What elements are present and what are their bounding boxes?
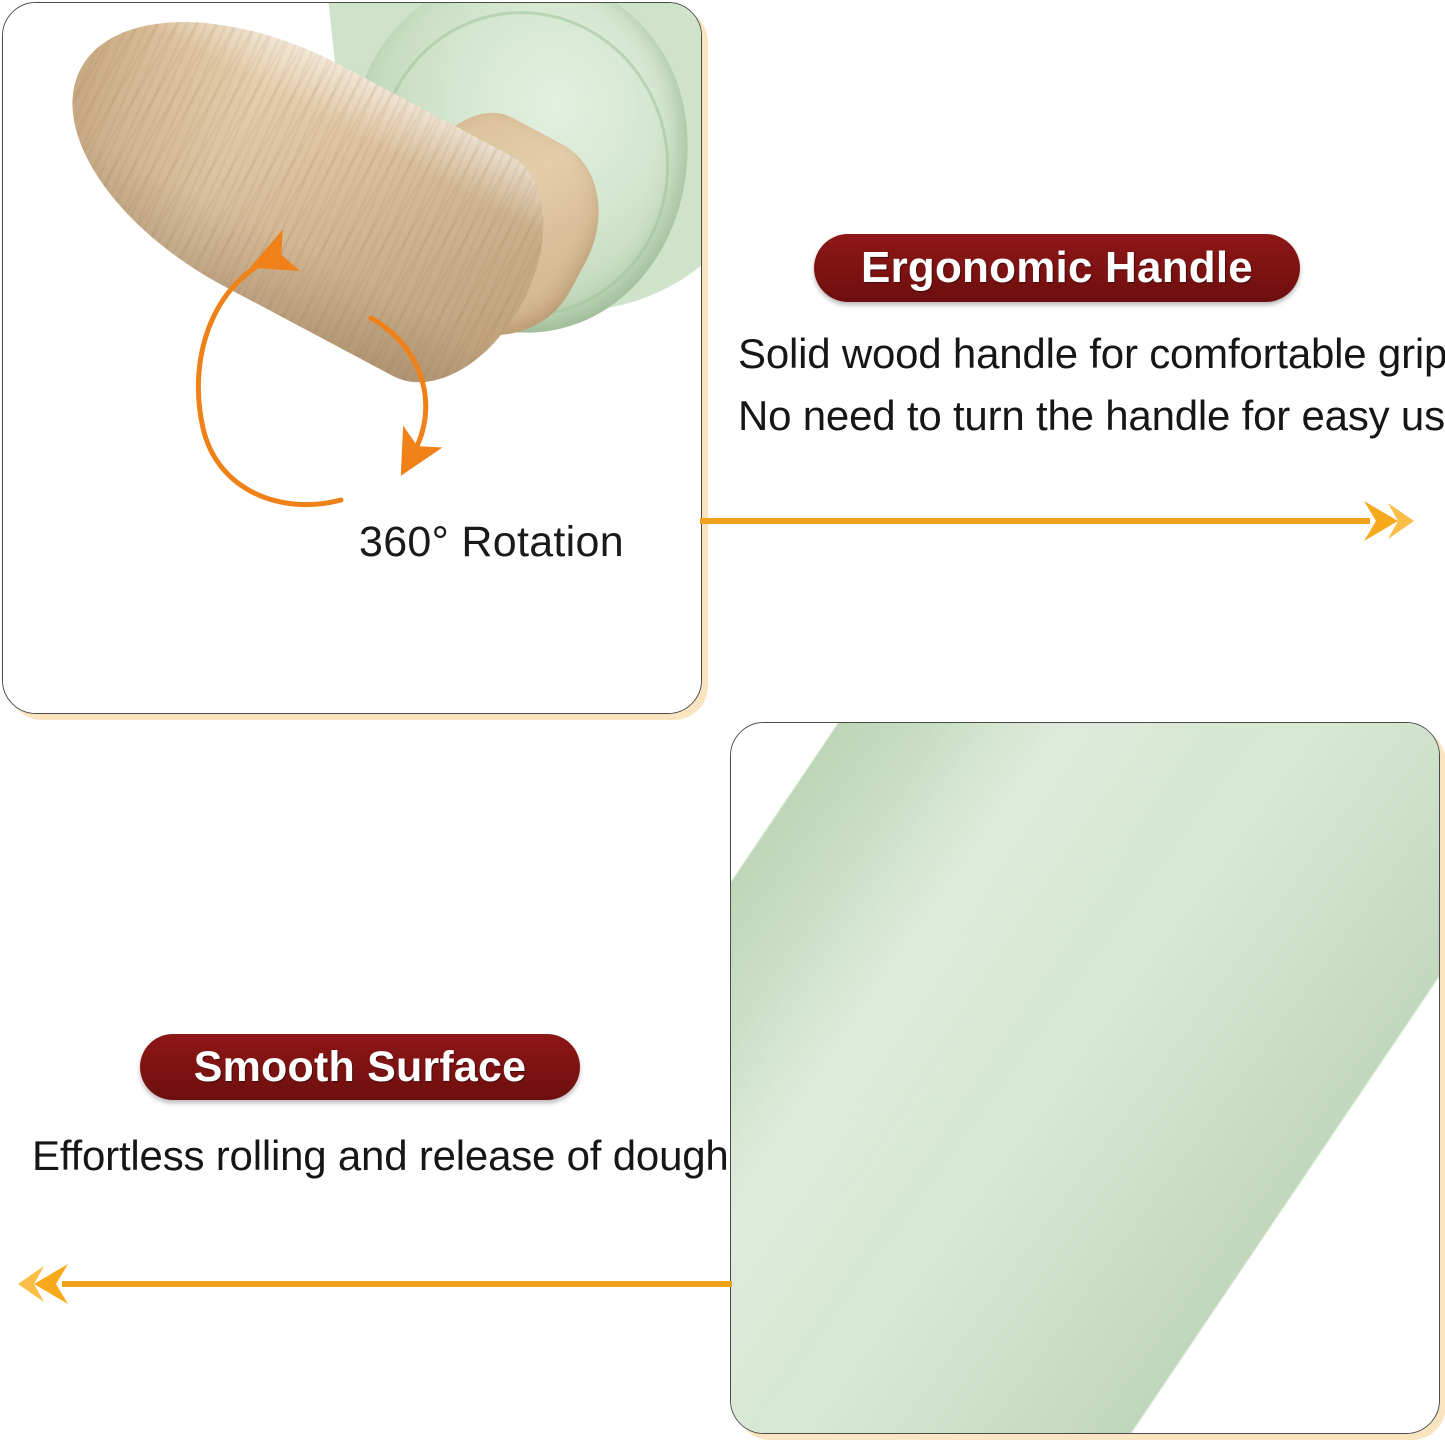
circular-rotation-arrow-icon — [173, 228, 493, 528]
feature-badge-smooth-surface: Smooth Surface — [140, 1034, 580, 1100]
surface-photo — [731, 723, 1439, 1433]
arrow-left-double-icon — [28, 1258, 734, 1310]
feature-description-line-smooth-1: Effortless rolling and release of dough — [32, 1132, 729, 1180]
rotation-caption: 360° Rotation — [359, 518, 624, 567]
feature-description-line-ergonomic-2: No need to turn the handle for easy use — [738, 392, 1445, 440]
feature-photo-panel-smooth-surface — [730, 722, 1440, 1434]
feature-description-line-ergonomic-1: Solid wood handle for comfortable grip — [738, 330, 1445, 378]
arrow-right-double-icon — [698, 495, 1410, 547]
feature-badge-ergonomic-handle: Ergonomic Handle — [814, 234, 1300, 302]
infographic-canvas: 360° Rotation Ergonomic Handle Solid woo… — [0, 0, 1445, 1452]
handle-photo: 360° Rotation — [3, 3, 701, 713]
feature-photo-panel-ergonomic-handle: 360° Rotation — [2, 2, 702, 714]
